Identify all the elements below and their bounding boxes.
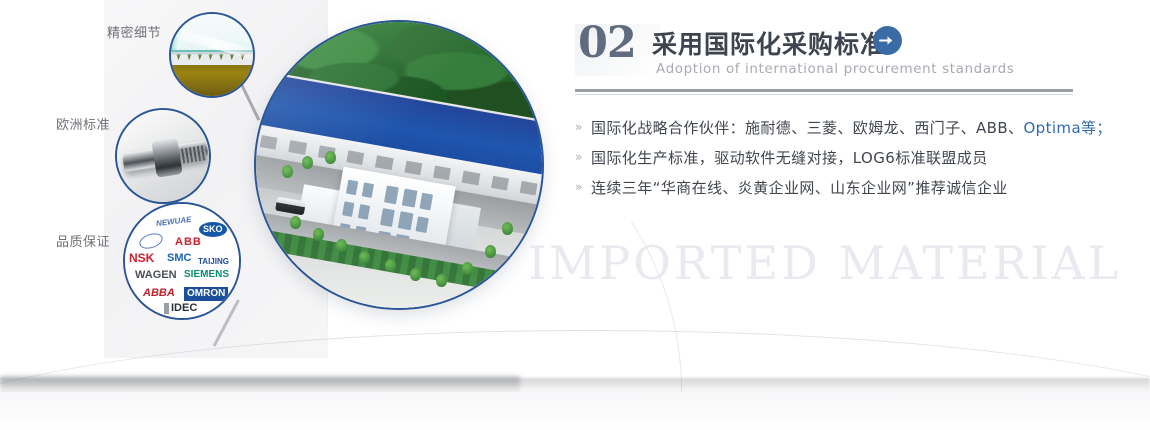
screw-nut [151, 137, 182, 177]
brand-logo-collage-photo: NEWUAE SKO ABB NSK SMC TAIJING WAGEN SIE… [125, 204, 239, 318]
bullet-text: 连续三年“华商在线、炎黄企业网、山东企业网”推荐诚信企业 [591, 177, 1008, 198]
list-item: » 国际化战略合作伙伴：施耐德、三菱、欧姆龙、西门子、ABB、Optima等； [575, 112, 1080, 142]
gear-teeth-closeup-photo [171, 14, 253, 96]
section-title-en: Adoption of international procurement st… [656, 61, 1014, 77]
logo-abba: ABBA [143, 288, 175, 299]
logo-wagen: WAGEN [135, 270, 177, 281]
factory-building-aerial-photo [256, 22, 542, 308]
side-label-european-standard: 欧洲标准 [56, 114, 110, 133]
logo-taijing: TAIJING [198, 258, 229, 266]
bullet-text-main: 国际化战略合作伙伴：施耐德、三菱、欧姆龙、西门子、ABB、 [591, 119, 1023, 137]
logo-omron: OMRON [184, 287, 228, 301]
bullet-text: 国际化战略合作伙伴：施耐德、三菱、欧姆龙、西门子、ABB、Optima等； [591, 117, 1112, 138]
header-divider-thin [575, 94, 1073, 95]
section-header: 02 采用国际化采购标准 Adoption of international p… [575, 0, 1095, 88]
bullet-text-main: 连续三年“华商在线、炎黄企业网、山东企业网”推荐诚信企业 [591, 179, 1008, 197]
logo-collage-items: NEWUAE SKO ABB NSK SMC TAIJING WAGEN SIE… [125, 204, 239, 318]
logo-abb: ABB [175, 237, 202, 248]
chevron-right-icon: » [575, 151, 591, 163]
logo-siemens: SIEMENS [184, 270, 229, 280]
arrow-right-circle-icon[interactable] [873, 26, 902, 55]
photo-gloss [256, 22, 542, 308]
logo-smc: SMC [167, 253, 191, 264]
section-number: 02 [578, 22, 636, 65]
chevron-right-icon: » [575, 181, 591, 193]
bottom-fade [0, 392, 1150, 430]
logo-sko: SKO [199, 222, 227, 237]
logo-nsk: NSK [129, 252, 154, 264]
bullet-text: 国际化生产标准，驱动软件无缝对接，LOG6标准联盟成员 [591, 147, 988, 168]
ball-screw-shaft-photo [117, 110, 209, 202]
side-label-precision: 精密细节 [107, 22, 161, 41]
slide-canvas: 精密细节 欧洲标准 品质保证 NEWUAE SKO ABB NSK SMC TA… [0, 0, 1150, 430]
side-label-quality-assurance: 品质保证 [56, 231, 110, 250]
list-item: » 连续三年“华商在线、炎黄企业网、山东企业网”推荐诚信企业 [575, 172, 1080, 202]
list-item: » 国际化生产标准，驱动软件无缝对接，LOG6标准联盟成员 [575, 142, 1080, 172]
header-divider [575, 89, 1073, 92]
logo-newuae: NEWUAE [156, 216, 192, 228]
logo-ellipse-mark [137, 231, 164, 252]
arrow-right-glyph [879, 33, 896, 48]
logo-idec: IDEC [164, 303, 197, 314]
chevron-right-icon: » [575, 121, 591, 133]
bullet-text-main: 国际化生产标准，驱动软件无缝对接，LOG6标准联盟成员 [591, 149, 988, 167]
section-title-cn: 采用国际化采购标准 [652, 25, 886, 61]
bullet-text-highlight: Optima等； [1023, 119, 1111, 137]
bullet-list: » 国际化战略合作伙伴：施耐德、三菱、欧姆龙、西门子、ABB、Optima等； … [575, 112, 1080, 202]
content-column: 02 采用国际化采购标准 Adoption of international p… [575, 0, 1095, 320]
